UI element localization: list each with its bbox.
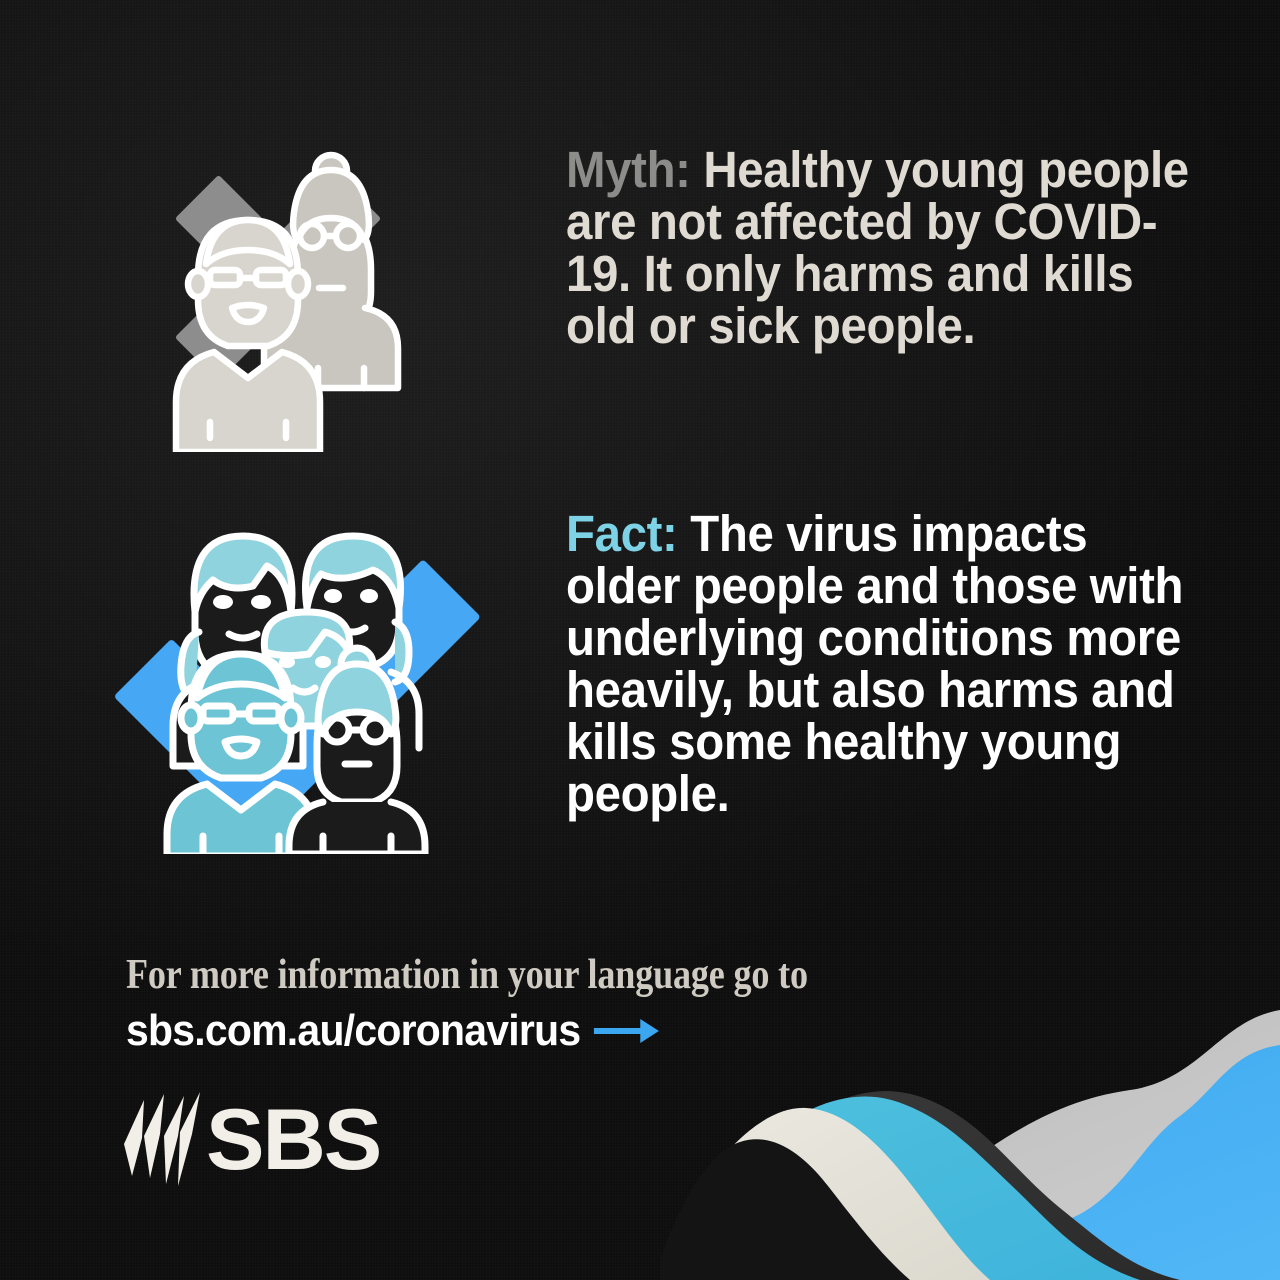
fact-statement: Fact: The virus impacts older people and… (566, 508, 1198, 820)
cross-elderly-couple-icon (128, 92, 428, 452)
website-url-link[interactable]: sbs.com.au/coronavirus (126, 1006, 580, 1056)
layered-wave-graphic (660, 940, 1280, 1280)
myth-statement: Myth: Healthy young people are not affec… (566, 144, 1191, 352)
arrow-right-icon[interactable] (593, 1014, 660, 1048)
poster-canvas: Myth: Healthy young people are not affec… (0, 0, 1280, 1280)
check-group-of-people-icon (95, 492, 535, 854)
myth-label: Myth: (566, 141, 691, 198)
sbs-wordmark: SBS (206, 1097, 380, 1183)
sbs-logo: SBS (118, 1092, 377, 1188)
fact-label: Fact: (566, 505, 677, 562)
sbs-flame-mark-icon (118, 1092, 202, 1188)
